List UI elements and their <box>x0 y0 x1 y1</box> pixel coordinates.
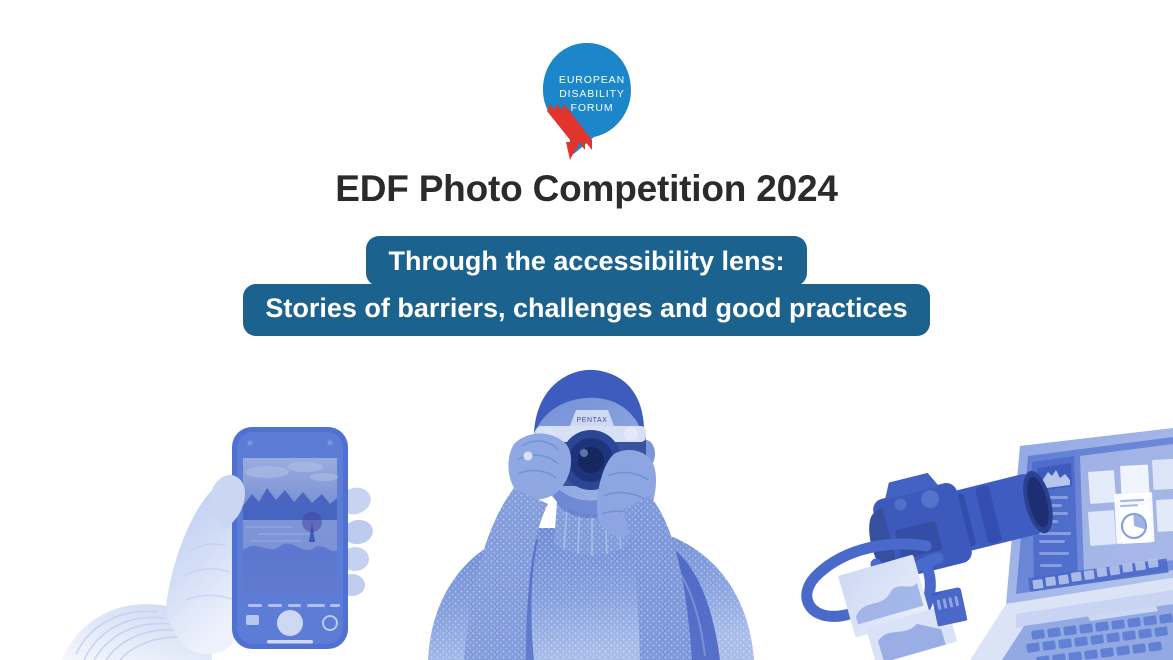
hand-phone-svg <box>62 410 402 660</box>
subtitle-banner: Through the accessibility lens: Stories … <box>0 236 1173 336</box>
photographer-with-camera-photo: PENTAX <box>418 368 763 660</box>
european-disability-forum-logo: EUROPEAN DISABILITY FORUM <box>526 38 648 160</box>
logo-line-forum: FORUM <box>570 102 613 114</box>
banner-line-1: Through the accessibility lens: <box>366 236 806 286</box>
photographer-svg: PENTAX <box>418 368 763 660</box>
hand-holding-smartphone-photo <box>62 410 402 660</box>
logo-line-disability: DISABILITY <box>559 88 625 100</box>
banner-line-2: Stories of barriers, challenges and good… <box>243 284 929 336</box>
viewfinder-foliage <box>243 544 337 593</box>
camera-shutter-dial <box>624 427 638 441</box>
camera-prints-laptop-photo <box>788 428 1173 660</box>
editor-featured-photo <box>1114 492 1155 544</box>
page-title: EDF Photo Competition 2024 <box>0 168 1173 211</box>
poster-canvas: EUROPEAN DISABILITY FORUM EDF Photo Comp… <box>0 0 1173 660</box>
camera-shutter-button <box>277 610 303 636</box>
camera-brand-label: PENTAX <box>576 417 607 424</box>
photo-collage: PENTAX <box>0 360 1173 660</box>
lens-reflection <box>580 449 588 457</box>
logo-line-european: EUROPEAN <box>558 74 624 86</box>
phone-home-indicator <box>267 640 313 644</box>
laptop <box>970 428 1173 660</box>
camera-laptop-svg <box>788 428 1173 660</box>
phone-sensor <box>328 441 333 446</box>
logo-svg: EUROPEAN DISABILITY FORUM <box>526 38 648 160</box>
phone-front-camera <box>248 441 253 446</box>
camera-gallery-thumbnail <box>246 615 259 625</box>
ring <box>524 452 533 461</box>
